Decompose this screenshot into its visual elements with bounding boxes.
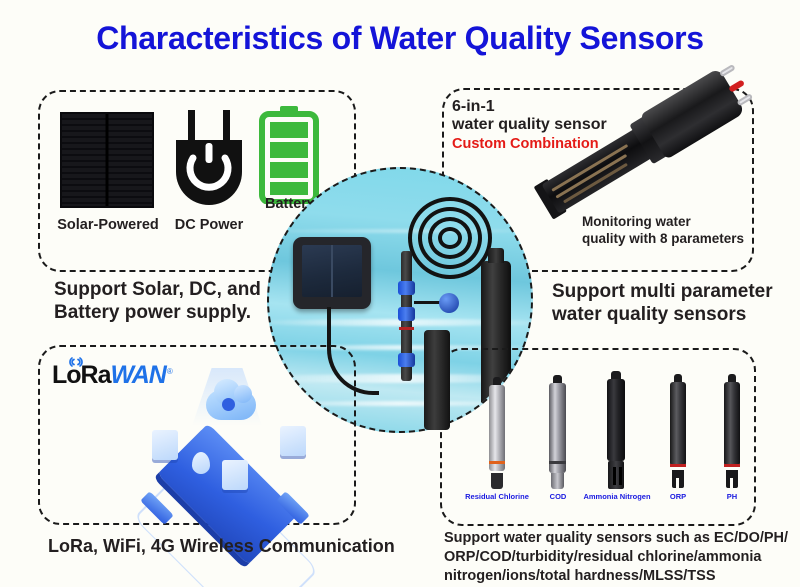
center-float-arm bbox=[414, 301, 442, 304]
center-float-ball bbox=[439, 293, 459, 313]
communication-caption: LoRa, WiFi, 4G Wireless Communication bbox=[48, 536, 395, 558]
monitoring-note-line1: Monitoring water bbox=[582, 214, 744, 231]
background-probe bbox=[424, 330, 450, 430]
monitoring-note-line2: quality with 8 parameters bbox=[582, 231, 744, 248]
probe-cod bbox=[549, 383, 566, 489]
probes-caption: Support water quality sensors such as EC… bbox=[444, 529, 794, 586]
iot-platform-illustration bbox=[130, 368, 330, 516]
probe-label-ammonia-nitrogen: Ammonia Nitrogen bbox=[578, 492, 656, 501]
probes-caption-line2: ORP/COD/turbidity/residual chlorine/ammo… bbox=[444, 548, 794, 567]
center-inline-sensor bbox=[399, 251, 414, 381]
solar-power-label: Solar-Powered bbox=[54, 217, 162, 233]
solar-panel-icon bbox=[60, 112, 154, 208]
custom-combination-badge: Custom Combination bbox=[452, 136, 607, 152]
probe-label-orp: ORP bbox=[655, 492, 701, 501]
center-solar-module bbox=[293, 237, 371, 309]
dc-power-label: DC Power bbox=[166, 217, 252, 233]
page-title: Characteristics of Water Quality Sensors bbox=[0, 20, 800, 57]
power-caption-line1: Support Solar, DC, and bbox=[54, 278, 261, 301]
probe-label-cod: COD bbox=[533, 492, 583, 501]
probe-label-residual-chlorine: Residual Chlorine bbox=[457, 492, 537, 501]
probes-caption-line1: Support water quality sensors such as EC… bbox=[444, 529, 794, 548]
probe-orp bbox=[670, 382, 686, 488]
probe-ammonia-nitrogen bbox=[607, 379, 625, 489]
multi-parameter-caption-line2: water quality sensors bbox=[552, 303, 773, 326]
probe-residual-chlorine bbox=[489, 385, 505, 489]
multi-parameter-caption: Support multi parameter water quality se… bbox=[552, 280, 773, 326]
battery-icon bbox=[258, 106, 320, 204]
probe-ph bbox=[724, 382, 740, 488]
monitoring-note: Monitoring water quality with 8 paramete… bbox=[582, 214, 744, 248]
multi-parameter-caption-line1: Support multi parameter bbox=[552, 280, 773, 303]
power-caption-line2: Battery power supply. bbox=[54, 301, 261, 324]
probe-label-ph: PH bbox=[710, 492, 754, 501]
signal-waves-icon bbox=[68, 354, 84, 370]
six-in-one-line2: water quality sensor bbox=[452, 116, 607, 134]
six-in-one-heading: 6-in-1 water quality sensor Custom Combi… bbox=[452, 98, 607, 152]
six-in-one-line1: 6-in-1 bbox=[452, 98, 607, 116]
infographic-canvas: Characteristics of Water Quality Sensors… bbox=[0, 0, 800, 587]
probes-caption-line3: nitrogen/ions/total hardness/MLSS/TSS bbox=[444, 567, 794, 586]
power-caption: Support Solar, DC, and Battery power sup… bbox=[54, 278, 261, 324]
dc-plug-icon bbox=[168, 110, 250, 210]
